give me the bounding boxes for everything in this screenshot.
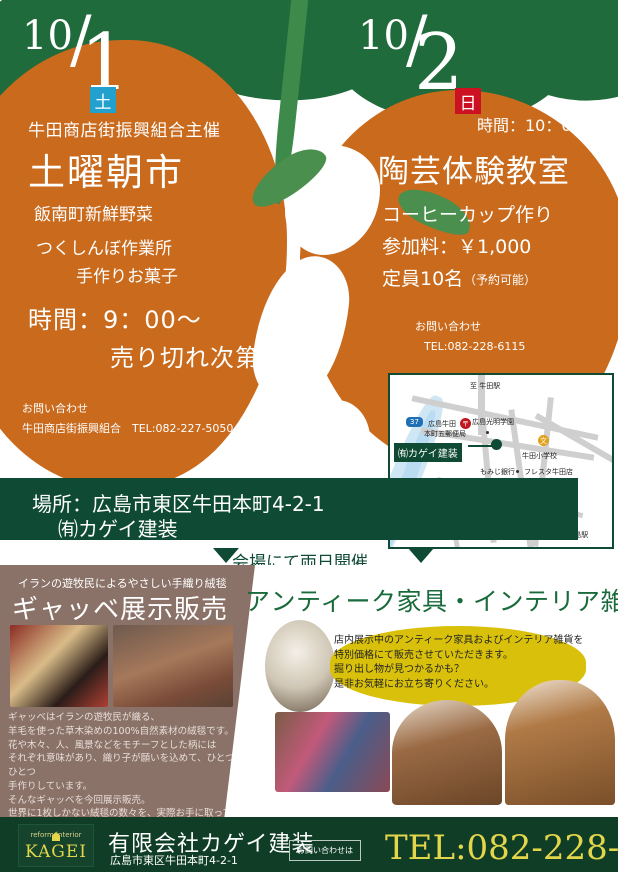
day1-host: 牛田商店街振興組合主催 [28, 116, 221, 141]
flyer-poster: 10 / 1 土 牛田商店街振興組合主催 土曜朝市 飯南町新鮮野菜 つくしんぼ作… [0, 0, 618, 872]
day2-capacity-note: （予約可能） [464, 271, 536, 288]
gabbeh-title: ギャッベ展示販売 [12, 589, 228, 626]
day1-contact: 牛田商店街振興組合 TEL:082-227-5050 [22, 420, 233, 436]
arrow-down-icon [408, 548, 434, 563]
map-label-bank: もみじ銀行 [480, 467, 515, 477]
shape-notch [300, 400, 370, 490]
map-venue-label: ㈲カゲイ建装 [394, 443, 462, 462]
day2-item-1: コーヒーカップ作り [382, 200, 553, 227]
map-label-elementary: 牛田小学校 [522, 451, 557, 461]
gabbeh-panel: イランの遊牧民によるやさしい手織り絨毯 ギャッベ展示販売 ギャッベはイランの遊牧… [0, 565, 255, 817]
day1-contact-label: お問い合わせ [22, 400, 88, 416]
map-label-to-ushita: 至 牛田駅 [470, 381, 500, 391]
glass-display-cabinet-photo [392, 700, 502, 805]
inquiry-button[interactable]: お問い合わせは [289, 840, 361, 861]
day2-weekday-badge: 日 [455, 88, 481, 114]
map-leader-line [468, 445, 498, 447]
day1-title: 土曜朝市 [28, 142, 184, 196]
day1-item-2: つくしんぼ作業所 [36, 234, 172, 259]
day1-month: 10 [22, 16, 73, 56]
kagei-logo: reform interior KAGEI [18, 824, 94, 867]
day2-fee: 参加料：￥1,000 [382, 232, 531, 259]
post-office-icon: 〒 [460, 418, 471, 429]
day1-item-1: 飯南町新鮮野菜 [34, 200, 153, 225]
map-dot [486, 431, 489, 434]
antique-lamp-photo [265, 620, 335, 712]
day2-contact-label: お問い合わせ [415, 318, 481, 334]
day2-capacity: 定員10名 [382, 264, 463, 291]
day2-title: 陶芸体験教室 [378, 146, 570, 191]
wooden-cabinet-photo [505, 680, 615, 805]
day2-time: 時間：10：00〜 [477, 112, 598, 136]
map-label-komyo-gakuen: 広島光明学園 [472, 417, 514, 427]
map-label-fresta: フレスタ牛田店 [524, 467, 573, 477]
day1-weekday-badge: 土 [90, 87, 116, 113]
gabbeh-rug-photo [10, 625, 108, 707]
day1-item-3: 手作りお菓子 [76, 262, 178, 287]
route-shield-icon: 37 [406, 417, 423, 427]
footer-telephone[interactable]: TEL:082-228-6115 [385, 828, 618, 868]
antique-title: アンティーク家具・インテリア雑貨 [245, 582, 618, 618]
logo-wordmark: KAGEI [19, 842, 93, 862]
map-label-post-office: 広島牛田 [428, 419, 456, 429]
venue-company: ㈲カゲイ建装 [58, 513, 178, 542]
company-address: 広島市東区牛田本町4-2-1 [110, 852, 238, 868]
map-dot [516, 470, 519, 473]
day2-contact: TEL:082-228-6115 [424, 340, 525, 353]
day1-time: 時間：9：00〜 [28, 300, 202, 335]
day1-time-note: 売り切れ次第終了 [110, 338, 310, 373]
day2-month: 10 [358, 16, 409, 56]
map-label-post-office-2: 本町五郵便局 [424, 429, 466, 439]
fabric-bags-photo [275, 712, 390, 792]
antique-chairs-photo [113, 625, 233, 707]
school-icon: 文 [538, 435, 549, 446]
